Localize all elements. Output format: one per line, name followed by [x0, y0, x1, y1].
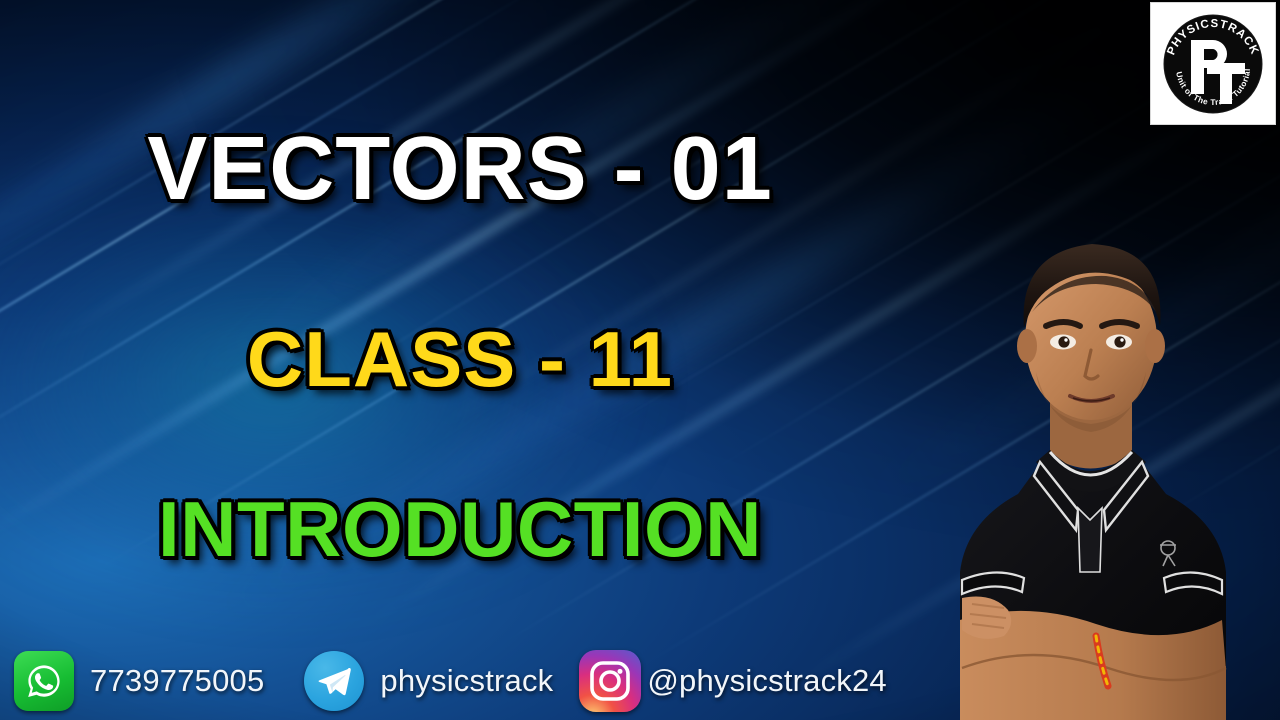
telegram-handle: physicstrack — [380, 663, 553, 699]
instagram-handle: @physicstrack24 — [647, 663, 887, 699]
social-item-whatsapp[interactable]: 7739775005 — [14, 649, 264, 713]
class-label: CLASS - 11 — [0, 320, 920, 398]
social-item-instagram[interactable]: @physicstrack24 — [579, 649, 887, 713]
social-item-telegram[interactable]: physicstrack — [304, 649, 553, 713]
telegram-icon[interactable] — [304, 651, 364, 711]
brand-logo-badge: PHYSICSTRACK A Unit of The Track Tutoria… — [1151, 3, 1275, 124]
instagram-icon[interactable] — [579, 650, 641, 712]
social-contact-bar: 7739775005 physicstrack — [0, 642, 1280, 720]
physicstrack-logo-icon: PHYSICSTRACK A Unit of The Track Tutoria… — [1157, 8, 1269, 120]
topic-label: INTRODUCTION — [0, 490, 920, 568]
whatsapp-handle: 7739775005 — [90, 663, 264, 699]
video-thumbnail-slide: VECTORS - 01 CLASS - 11 INTRODUCTION PHY… — [0, 0, 1280, 720]
whatsapp-icon[interactable] — [14, 651, 74, 711]
page-title: VECTORS - 01 — [0, 124, 920, 214]
